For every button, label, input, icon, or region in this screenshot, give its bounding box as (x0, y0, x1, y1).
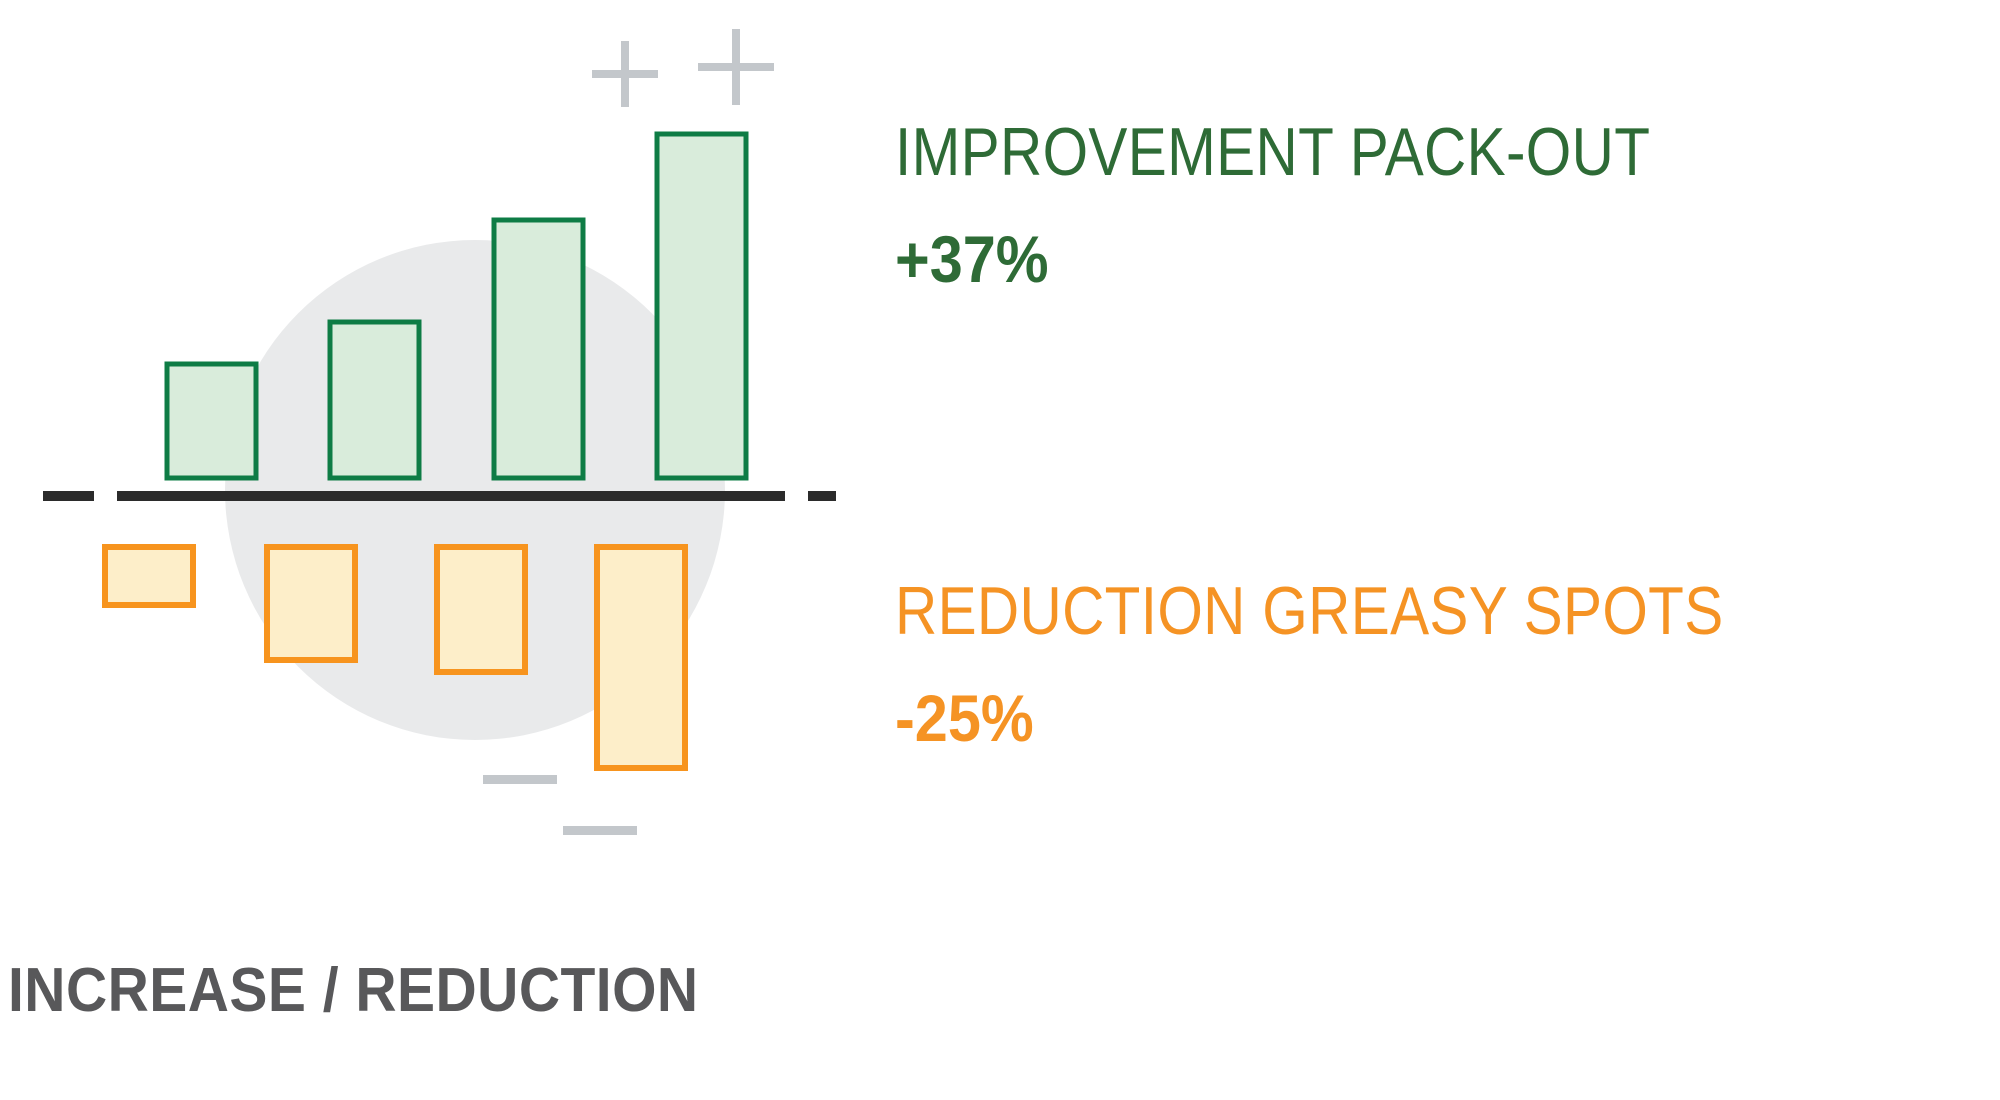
callout-reduction: REDUCTION GREASY SPOTS -25% (895, 577, 1859, 751)
axis-dash-right (808, 491, 836, 501)
plus-icon (592, 41, 658, 107)
bar-orange-3 (437, 547, 525, 672)
chart-svg (0, 0, 900, 900)
bar-green-3 (494, 220, 583, 478)
bar-green-1 (167, 364, 256, 478)
axis-dash-left (43, 491, 94, 501)
bar-orange-2 (267, 547, 355, 660)
bar-green-4 (657, 134, 746, 478)
plus-icon (698, 29, 774, 105)
infographic-canvas: IMPROVEMENT PACK-OUT +37% REDUCTION GREA… (0, 0, 2000, 1100)
axis-baseline (43, 491, 836, 501)
callout-reduction-title: REDUCTION GREASY SPOTS (895, 577, 1724, 645)
callout-reduction-value: -25% (895, 645, 1762, 751)
minus-icon (483, 775, 557, 784)
bar-orange-1 (105, 547, 193, 605)
bar-orange-4 (597, 547, 685, 768)
bar-chart-graphic (0, 0, 900, 900)
axis-main-line (117, 491, 785, 501)
minus-icon-group (483, 775, 637, 835)
callout-improvement-title: IMPROVEMENT PACK-OUT (895, 118, 1650, 186)
minus-icon (563, 826, 637, 835)
callout-improvement-value: +37% (895, 186, 1685, 292)
chart-caption: INCREASE / REDUCTION (8, 955, 699, 1026)
bar-green-2 (330, 322, 419, 478)
plus-icon-group (592, 29, 774, 107)
callout-improvement: IMPROVEMENT PACK-OUT +37% (895, 118, 1773, 292)
